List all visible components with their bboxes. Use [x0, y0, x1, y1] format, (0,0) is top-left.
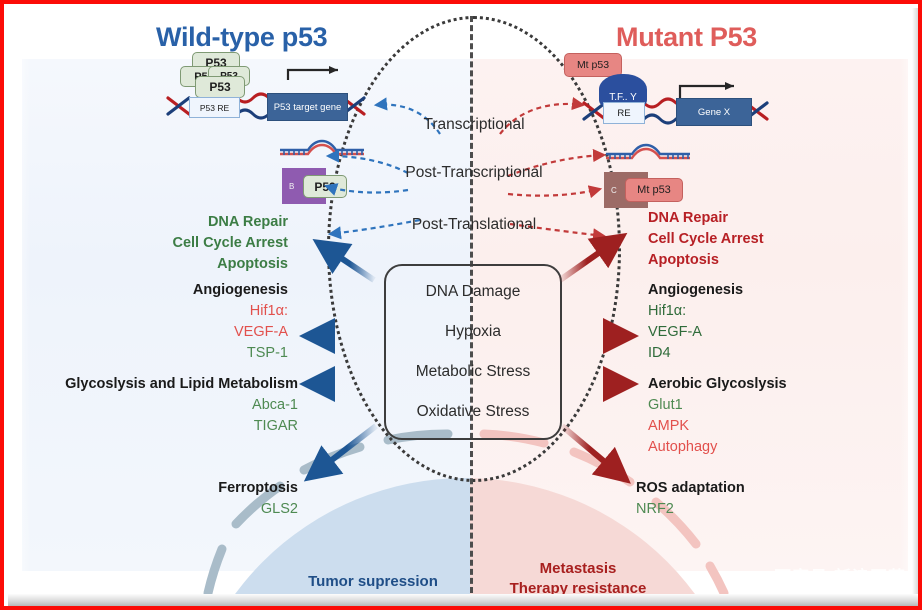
right-outcome-group-2: Angiogenesis Hif1α: VEGF-A ID4 — [648, 280, 918, 364]
right-outcome-autophagy: Autophagy — [648, 437, 918, 458]
left-outcome-hif1a: Hif1α: — [18, 301, 288, 322]
right-outcome-hif1a: Hif1α: — [648, 301, 918, 322]
left-outcome-group-1: DNA Repair Cell Cycle Arrest Apoptosis — [18, 212, 288, 275]
stress-stimuli-box: DNA Damage Hypoxia Metabolic Stress Oxid… — [384, 264, 562, 440]
left-outcome-ferroptosis-header: Ferroptosis — [38, 478, 298, 499]
left-outcome-group-4: Ferroptosis GLS2 — [38, 478, 298, 520]
left-protein-p53-tag: P53 — [303, 175, 347, 198]
left-outcome-vegfa: VEGF-A — [18, 322, 288, 343]
right-outcome-group-4: ROS adaptation NRF2 — [636, 478, 906, 520]
watermark-text: 百家号/新浪医药 — [774, 563, 906, 588]
right-outcome-vegfa: VEGF-A — [648, 322, 918, 343]
left-outcome-tigar: TIGAR — [8, 416, 298, 437]
page-title-mutant: Mutant P53 — [616, 22, 757, 53]
figure-canvas: Wild-type p53 Mutant P53 P53 P53 P53 P53… — [8, 8, 922, 610]
right-outcome-id4: ID4 — [648, 343, 918, 364]
stress-metabolic: Metabolic Stress — [416, 363, 531, 381]
right-outcome-aerobic-glycolysis-header: Aerobic Glycoslysis — [648, 374, 918, 395]
right-outcome-dna-repair: DNA Repair — [648, 208, 918, 229]
right-outcome-ampk: AMPK — [648, 416, 918, 437]
mutant-p53-tag: Mt p53 — [564, 53, 622, 77]
left-outcome-angiogenesis-header: Angiogenesis — [18, 280, 288, 301]
left-outcome-group-3: Glycoslysis and Lipid Metabolism Abca-1 … — [8, 374, 298, 437]
p53-target-gene-box: P53 target gene — [267, 93, 348, 121]
right-outcome-angiogenesis-header: Angiogenesis — [648, 280, 918, 301]
left-outcome-gls2: GLS2 — [38, 499, 298, 520]
stress-oxidative: Oxidative Stress — [417, 403, 530, 421]
cell-label-tumor-suppression: Tumor supression — [268, 573, 478, 590]
stress-hypoxia: Hypoxia — [445, 323, 501, 341]
p53-monomer-4: P53 — [195, 76, 245, 98]
right-outcome-glut1: Glut1 — [648, 395, 918, 416]
right-outcome-group-3: Aerobic Glycoslysis Glut1 AMPK Autophagy — [648, 374, 918, 458]
mutant-response-element-box: RE — [603, 102, 645, 124]
pathway-label-transcriptional: Transcriptional — [359, 116, 589, 134]
left-outcome-tsp1: TSP-1 — [18, 343, 288, 364]
right-outcome-group-1: DNA Repair Cell Cycle Arrest Apoptosis — [648, 208, 918, 271]
left-outcome-abca1: Abca-1 — [8, 395, 298, 416]
right-outcome-ros-adaptation-header: ROS adaptation — [636, 478, 906, 499]
left-outcome-group-2: Angiogenesis Hif1α: VEGF-A TSP-1 — [18, 280, 288, 364]
right-outcome-nrf2: NRF2 — [636, 499, 906, 520]
right-edge-shadow — [912, 8, 922, 610]
p53-response-element-box: P53 RE — [189, 97, 240, 118]
left-outcome-dna-repair: DNA Repair — [18, 212, 288, 233]
right-outcome-cell-cycle-arrest: Cell Cycle Arrest — [648, 229, 918, 250]
bottom-edge-shadow — [8, 594, 922, 610]
right-outcome-apoptosis: Apoptosis — [648, 250, 918, 271]
right-protein-mt-tag: Mt p53 — [625, 178, 683, 202]
gene-x-box: Gene X — [676, 98, 752, 126]
left-outcome-apoptosis: Apoptosis — [18, 254, 288, 275]
pathway-label-post-translational: Post-Translational — [359, 216, 589, 234]
page-title-wildtype: Wild-type p53 — [156, 22, 327, 53]
pathway-label-post-transcriptional: Post-Transcriptional — [359, 164, 589, 182]
left-outcome-cell-cycle-arrest: Cell Cycle Arrest — [18, 233, 288, 254]
left-outcome-glycolysis-header: Glycoslysis and Lipid Metabolism — [8, 374, 298, 395]
stress-dna-damage: DNA Damage — [426, 283, 521, 301]
figure-frame: Wild-type p53 Mutant P53 P53 P53 P53 P53… — [0, 0, 922, 610]
cell-label-metastasis: Metastasis — [478, 560, 678, 577]
